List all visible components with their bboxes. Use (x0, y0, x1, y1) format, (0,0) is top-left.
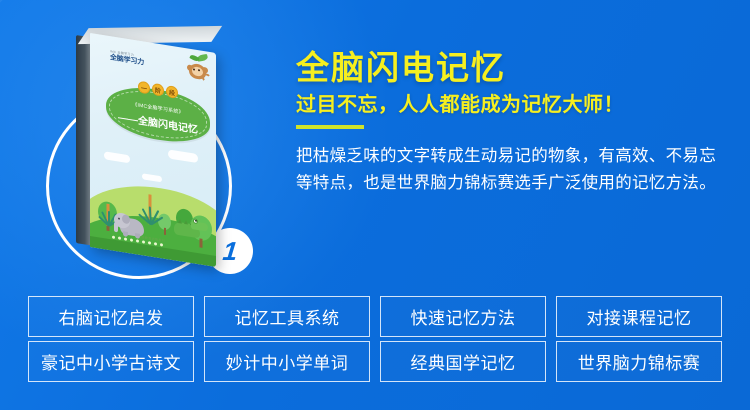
feature-tag[interactable]: 妙计中小学单词 (204, 341, 370, 382)
feature-tag[interactable]: 对接课程记忆 (556, 296, 722, 337)
feature-tag[interactable]: 右脑记忆启发 (28, 296, 194, 337)
product-visual: 1 全脑教育出版发行 (0, 0, 290, 300)
book-cover: 全脑教育出版发行 (90, 33, 216, 267)
book-brand-logo: IMC 全脑学习力 全脑学习力 (110, 50, 162, 69)
feature-tag[interactable]: 世界脑力锦标赛 (556, 341, 722, 382)
stage-chip: 一 (138, 81, 150, 95)
title-divider (296, 125, 364, 129)
page-title: 全脑闪电记忆 (296, 50, 736, 87)
feature-tag[interactable]: 豪记中小学古诗文 (28, 341, 194, 382)
promo-banner: 1 全脑教育出版发行 (0, 0, 750, 410)
elephant-icon (114, 207, 146, 238)
monkey-icon (178, 51, 212, 88)
cloud-icon (142, 173, 162, 182)
tree-icon (158, 213, 171, 231)
stage-number-label: 1 (221, 238, 238, 264)
page-description: 把枯燥乏味的文字转成生动易记的物象，有高效、不易忘等特点，也是世界脑力锦标赛选手… (296, 143, 716, 196)
stage-chip: 阶 (152, 83, 164, 97)
feature-tag[interactable]: 记忆工具系统 (204, 296, 370, 337)
feature-tag-grid: 右脑记忆启发 记忆工具系统 快速记忆方法 对接课程记忆 豪记中小学古诗文 妙计中… (28, 296, 722, 382)
page-subtitle: 过目不忘，人人都能成为记忆大师！ (296, 93, 736, 117)
stage-chip: 段 (166, 85, 178, 99)
cloud-icon (168, 149, 198, 163)
headline-block: 全脑闪电记忆 过目不忘，人人都能成为记忆大师！ 把枯燥乏味的文字转成生动易记的物… (296, 50, 736, 196)
feature-tag[interactable]: 经典国学记忆 (380, 341, 546, 382)
feature-tag[interactable]: 快速记忆方法 (380, 296, 546, 337)
book-mockup: 全脑教育出版发行 (76, 27, 221, 252)
book-title-badge: 一 阶 段 《IMC全脑学习系统》 ——全脑闪电记忆 (106, 82, 210, 148)
cloud-icon (104, 151, 130, 163)
